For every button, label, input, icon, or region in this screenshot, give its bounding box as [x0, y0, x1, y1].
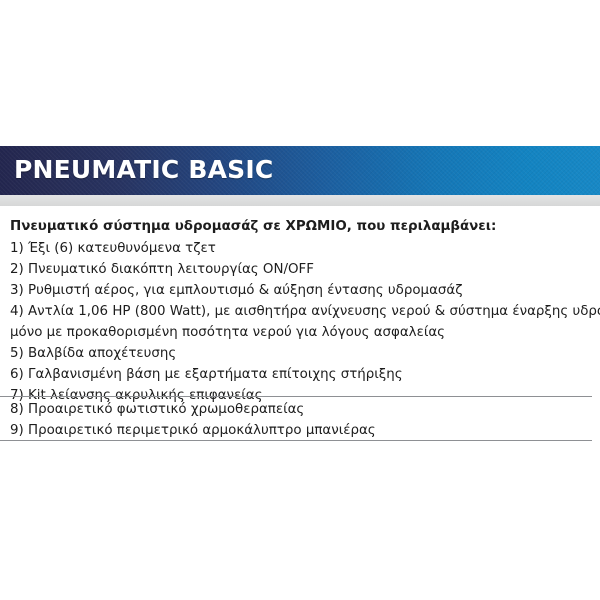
list-item: 5) Βαλβίδα αποχέτευσης	[0, 343, 600, 364]
spec-sheet-page: PNEUMATIC BASIC Πνευματικό σύστημα υδρομ…	[0, 0, 600, 600]
list-item: 1) Έξι (6) κατευθυνόμενα τζετ	[0, 238, 600, 259]
list-item: 9) Προαιρετικό περιμετρικό αρμοκάλυπτρο …	[0, 420, 600, 441]
optional-section-top-divider	[0, 396, 592, 397]
page-title: PNEUMATIC BASIC	[14, 154, 273, 186]
list-item-continuation: μόνο με προκαθορισμένη ποσότητα νερού γι…	[0, 322, 600, 343]
list-item: 8) Προαιρετικό φωτιστικό χρωμοθεραπείας	[0, 399, 600, 420]
content-top-spacer	[0, 206, 600, 216]
product-banner: PNEUMATIC BASIC	[0, 146, 600, 195]
header-underbar	[0, 195, 600, 206]
intro-heading: Πνευματικό σύστημα υδρομασάζ σε ΧΡΩΜΙΟ, …	[0, 216, 600, 238]
list-item: 2) Πνευματικό διακόπτη λειτουργίας ON/OF…	[0, 259, 600, 280]
specification-list: Πνευματικό σύστημα υδρομασάζ σε ΧΡΩΜΙΟ, …	[0, 206, 600, 406]
list-item: 4) Αντλία 1,06 HP (800 Watt), με αισθητή…	[0, 301, 600, 322]
optional-section-bottom-divider	[0, 440, 592, 441]
optional-items-list: 8) Προαιρετικό φωτιστικό χρωμοθεραπείας …	[0, 399, 600, 441]
list-item: 6) Γαλβανισμένη βάση με εξαρτήματα επίτο…	[0, 364, 600, 385]
list-item: 3) Ρυθμιστή αέρος, για εμπλουτισμό & αύξ…	[0, 280, 600, 301]
